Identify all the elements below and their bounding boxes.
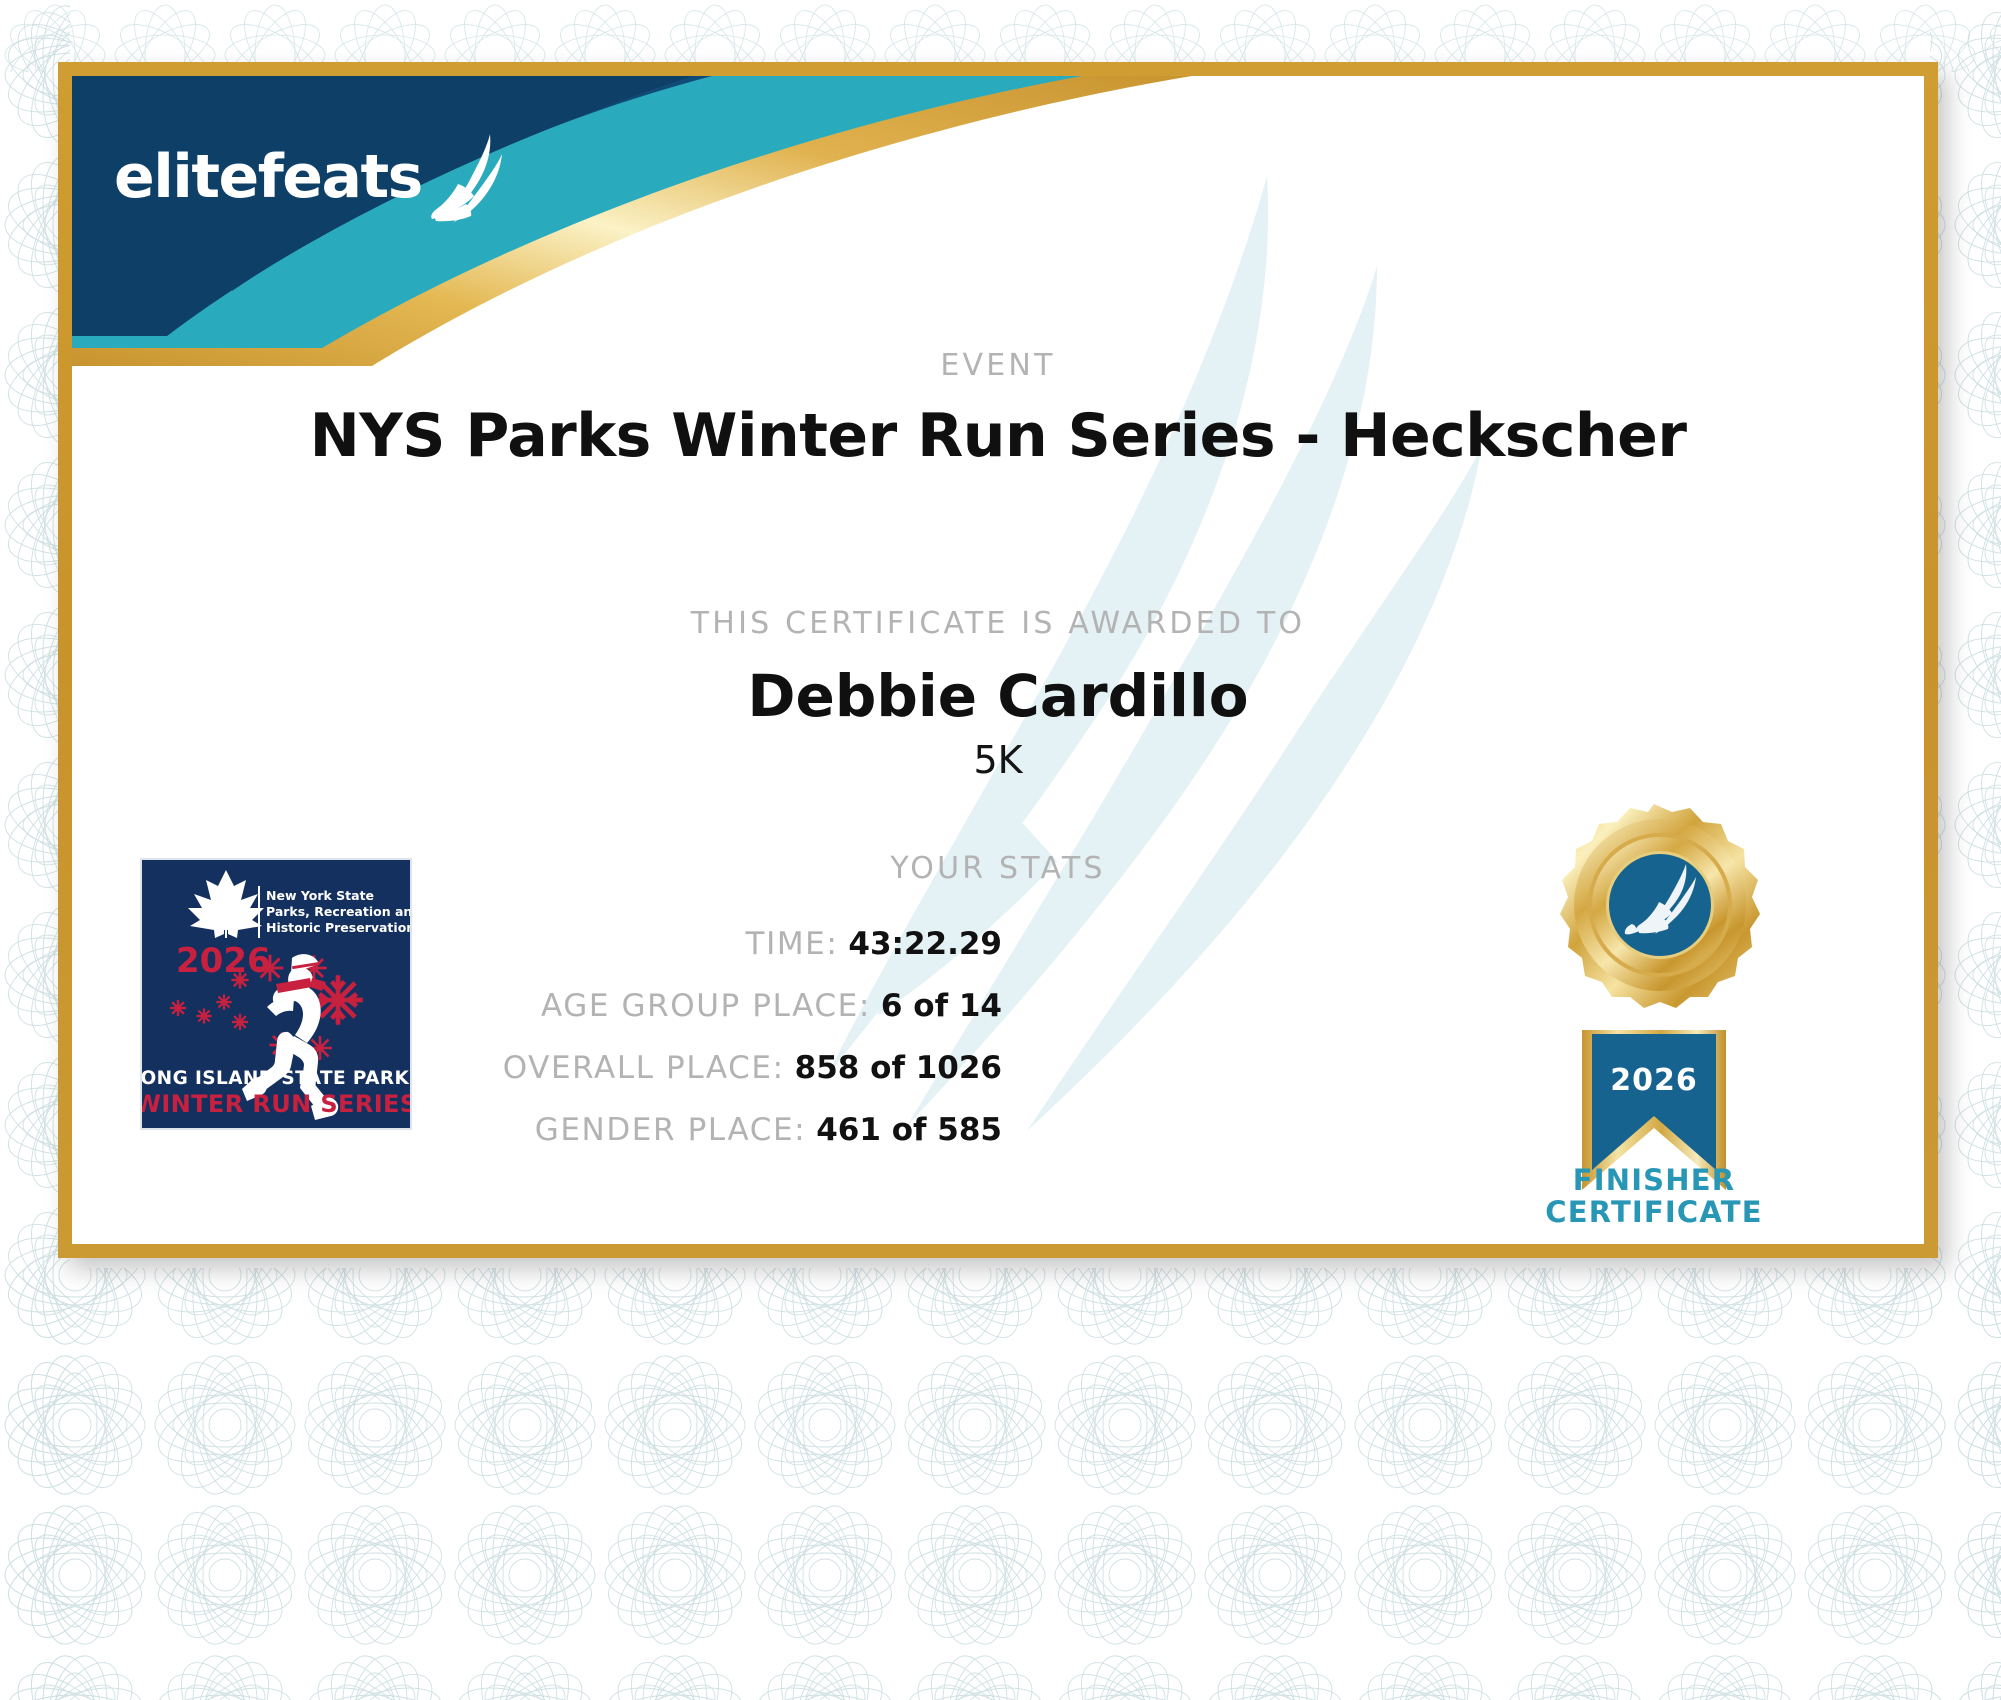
certificate-body: elitefeats EVENT NYS Parks Winter Run Se… — [72, 76, 1924, 1244]
elitefeats-wordmark: elitefeats — [114, 147, 422, 207]
stat-value: 461 of 585 — [816, 1112, 1002, 1148]
winged-foot-icon — [428, 132, 510, 222]
stat-value: 6 of 14 — [881, 988, 1002, 1024]
stat-key: TIME: — [746, 926, 839, 962]
stat-row-age-group-place: AGE GROUP PLACE: 6 of 14 — [402, 988, 1002, 1024]
race-distance: 5K — [72, 738, 1924, 782]
stat-value: 43:22.29 — [848, 926, 1002, 962]
stat-row-overall-place: OVERALL PLACE: 858 of 1026 — [402, 1050, 1002, 1086]
stat-key: OVERALL PLACE: — [503, 1050, 785, 1086]
event-title: NYS Parks Winter Run Series - Heckscher — [72, 401, 1924, 471]
stat-value: 858 of 1026 — [795, 1050, 1002, 1086]
ribbon-year: 2026 — [1610, 1063, 1698, 1098]
elitefeats-logo: elitefeats — [114, 132, 510, 222]
finisher-certificate-caption: FINISHER CERTIFICATE — [1484, 1164, 1824, 1229]
svg-text:Historic Preservation: Historic Preservation — [266, 920, 410, 935]
svg-text:WINTER RUN SERIES: WINTER RUN SERIES — [142, 1090, 410, 1118]
svg-text:Parks, Recreation and: Parks, Recreation and — [266, 904, 410, 919]
certificate-gold-frame: elitefeats EVENT NYS Parks Winter Run Se… — [58, 62, 1938, 1258]
event-logo-tile: New York State Parks, Recreation and His… — [140, 858, 412, 1130]
recipient-name: Debbie Cardillo — [72, 662, 1924, 730]
svg-text:2026: 2026 — [176, 941, 271, 981]
medal-disc — [1560, 804, 1760, 1008]
svg-text:New York State: New York State — [266, 888, 374, 903]
finisher-medal: 2026 — [1504, 798, 1804, 1218]
stat-key: GENDER PLACE: — [535, 1112, 806, 1148]
finisher-line-2: CERTIFICATE — [1484, 1196, 1824, 1228]
certificate-page: elitefeats EVENT NYS Parks Winter Run Se… — [0, 0, 2001, 1700]
stat-key: AGE GROUP PLACE: — [541, 988, 871, 1024]
stat-row-time: TIME: 43:22.29 — [402, 926, 1002, 962]
stats-list: TIME: 43:22.29 AGE GROUP PLACE: 6 of 14 … — [402, 926, 1002, 1174]
finisher-line-1: FINISHER — [1484, 1164, 1824, 1196]
awarded-to-label: THIS CERTIFICATE IS AWARDED TO — [72, 606, 1924, 641]
svg-text:LONG ISLAND STATE PARKS: LONG ISLAND STATE PARKS — [142, 1068, 410, 1089]
stat-row-gender-place: GENDER PLACE: 461 of 585 — [402, 1112, 1002, 1148]
event-label: EVENT — [72, 348, 1924, 383]
